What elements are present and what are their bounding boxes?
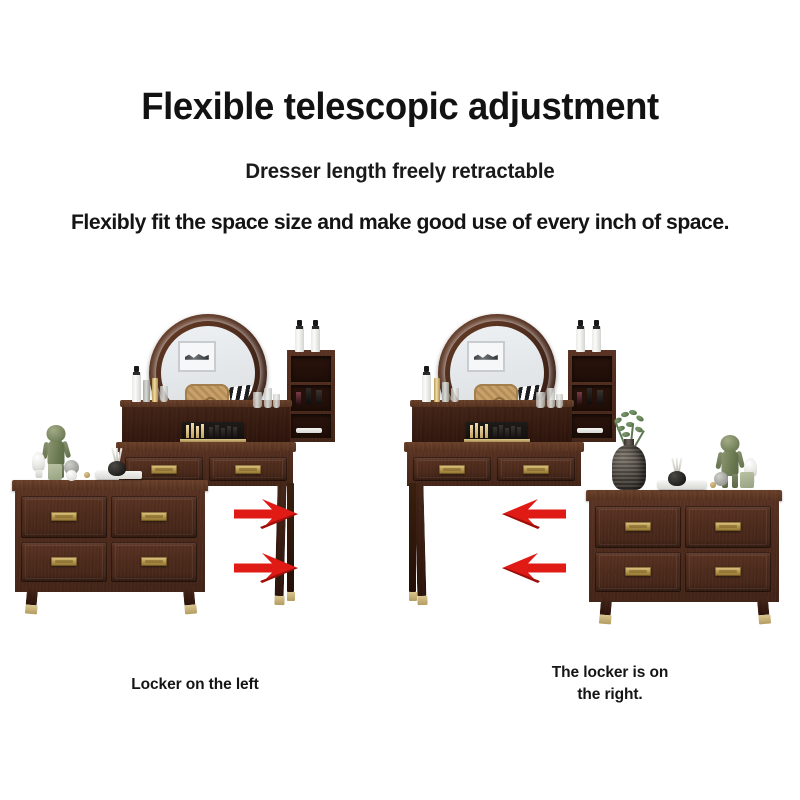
grey-sphere: [714, 472, 728, 486]
cosmetic-jar: [160, 386, 168, 402]
arrow-group-collapse-left: [500, 300, 590, 640]
locker-leg-left: [599, 598, 612, 625]
arrow-left-icon: [500, 498, 568, 530]
locker-body: [589, 500, 779, 602]
page-subtitle: Dresser length freely retractable: [12, 128, 788, 184]
page-tagline: Flexibly fit the space size and make goo…: [6, 184, 794, 235]
brass-foot: [598, 614, 611, 624]
locker-body: [15, 490, 205, 592]
reed-diffuser: [668, 462, 686, 486]
caption-locker-right: The locker is onthe right.: [450, 662, 770, 707]
locker-drawer-top-left[interactable]: [21, 496, 107, 538]
cosmetic-bottle: [143, 380, 150, 402]
arrow-left-icon: [500, 552, 568, 584]
locker-drawer-bottom-right[interactable]: [685, 552, 771, 592]
product-feature-graphic: { "headings": { "title": "Flexible teles…: [0, 0, 800, 800]
arrow-right-icon: [232, 498, 300, 530]
gold-serum-bottle: [152, 378, 158, 402]
tall-white-pump-bottle: [592, 326, 601, 352]
perfume-bottle: [597, 390, 603, 404]
brass-foot: [758, 614, 771, 624]
cosmetic-bottle: [442, 382, 449, 402]
brass-bead: [84, 472, 90, 478]
locker-drawer-bottom-right[interactable]: [111, 542, 197, 582]
drawer-handle[interactable]: [625, 567, 651, 576]
sage-block-decor: [48, 464, 62, 480]
drawer-handle[interactable]: [439, 465, 465, 474]
drawer-handle[interactable]: [51, 557, 77, 566]
locker-drawer-top-right[interactable]: [685, 506, 771, 548]
brass-foot: [184, 604, 197, 614]
tall-white-pump-bottle: [422, 372, 431, 402]
brass-foot: [24, 604, 37, 614]
drawer-handle[interactable]: [141, 512, 167, 521]
locker-drawer-bottom-left[interactable]: [21, 542, 107, 582]
reflection-framed-art: [178, 341, 216, 372]
drawer-handle[interactable]: [141, 557, 167, 566]
white-pawn-figure: [32, 452, 45, 471]
white-pawn-figure: [66, 470, 77, 481]
reflection-framed-art: [467, 341, 505, 372]
drawer-handle[interactable]: [151, 465, 177, 474]
desk-leg-front: [414, 483, 426, 605]
desk-drawer-left[interactable]: [413, 457, 491, 481]
cosmetic-jar: [451, 388, 459, 402]
product-illustration-stage: [0, 300, 800, 640]
locker-drawer-top-left[interactable]: [595, 506, 681, 548]
locker-drawer-bottom-left[interactable]: [595, 552, 681, 592]
locker-leg-right: [183, 588, 196, 615]
arrow-right-icon: [232, 552, 300, 584]
sage-block-decor: [740, 472, 754, 488]
drawer-handle[interactable]: [715, 522, 741, 531]
brass-foot: [417, 596, 427, 605]
brass-foot: [409, 592, 417, 601]
gold-serum-bottle: [434, 378, 440, 402]
desk-leg-back: [409, 483, 416, 601]
locker-leg-left: [25, 588, 38, 615]
low-locker-4-drawer: [12, 480, 208, 592]
drawer-handle[interactable]: [51, 512, 77, 521]
reed-diffuser: [108, 452, 126, 476]
low-locker-4-drawer: [586, 490, 782, 602]
scene-locker-right: [396, 300, 796, 640]
locker-drawer-top-right[interactable]: [111, 496, 197, 538]
caption-locker-left: Locker on the left: [20, 674, 370, 696]
arrow-group-expand-right: [232, 300, 322, 640]
heading-block: Flexible telescopic adjustment Dresser l…: [0, 0, 800, 235]
page-title: Flexible telescopic adjustment: [16, 0, 784, 128]
tall-white-pump-bottle: [132, 372, 141, 402]
scene-locker-left: [4, 300, 384, 640]
locker-leg-right: [757, 598, 770, 625]
drawer-handle[interactable]: [715, 567, 741, 576]
drawer-handle[interactable]: [625, 522, 651, 531]
ribbed-vase-with-eucalyptus: [612, 410, 646, 490]
